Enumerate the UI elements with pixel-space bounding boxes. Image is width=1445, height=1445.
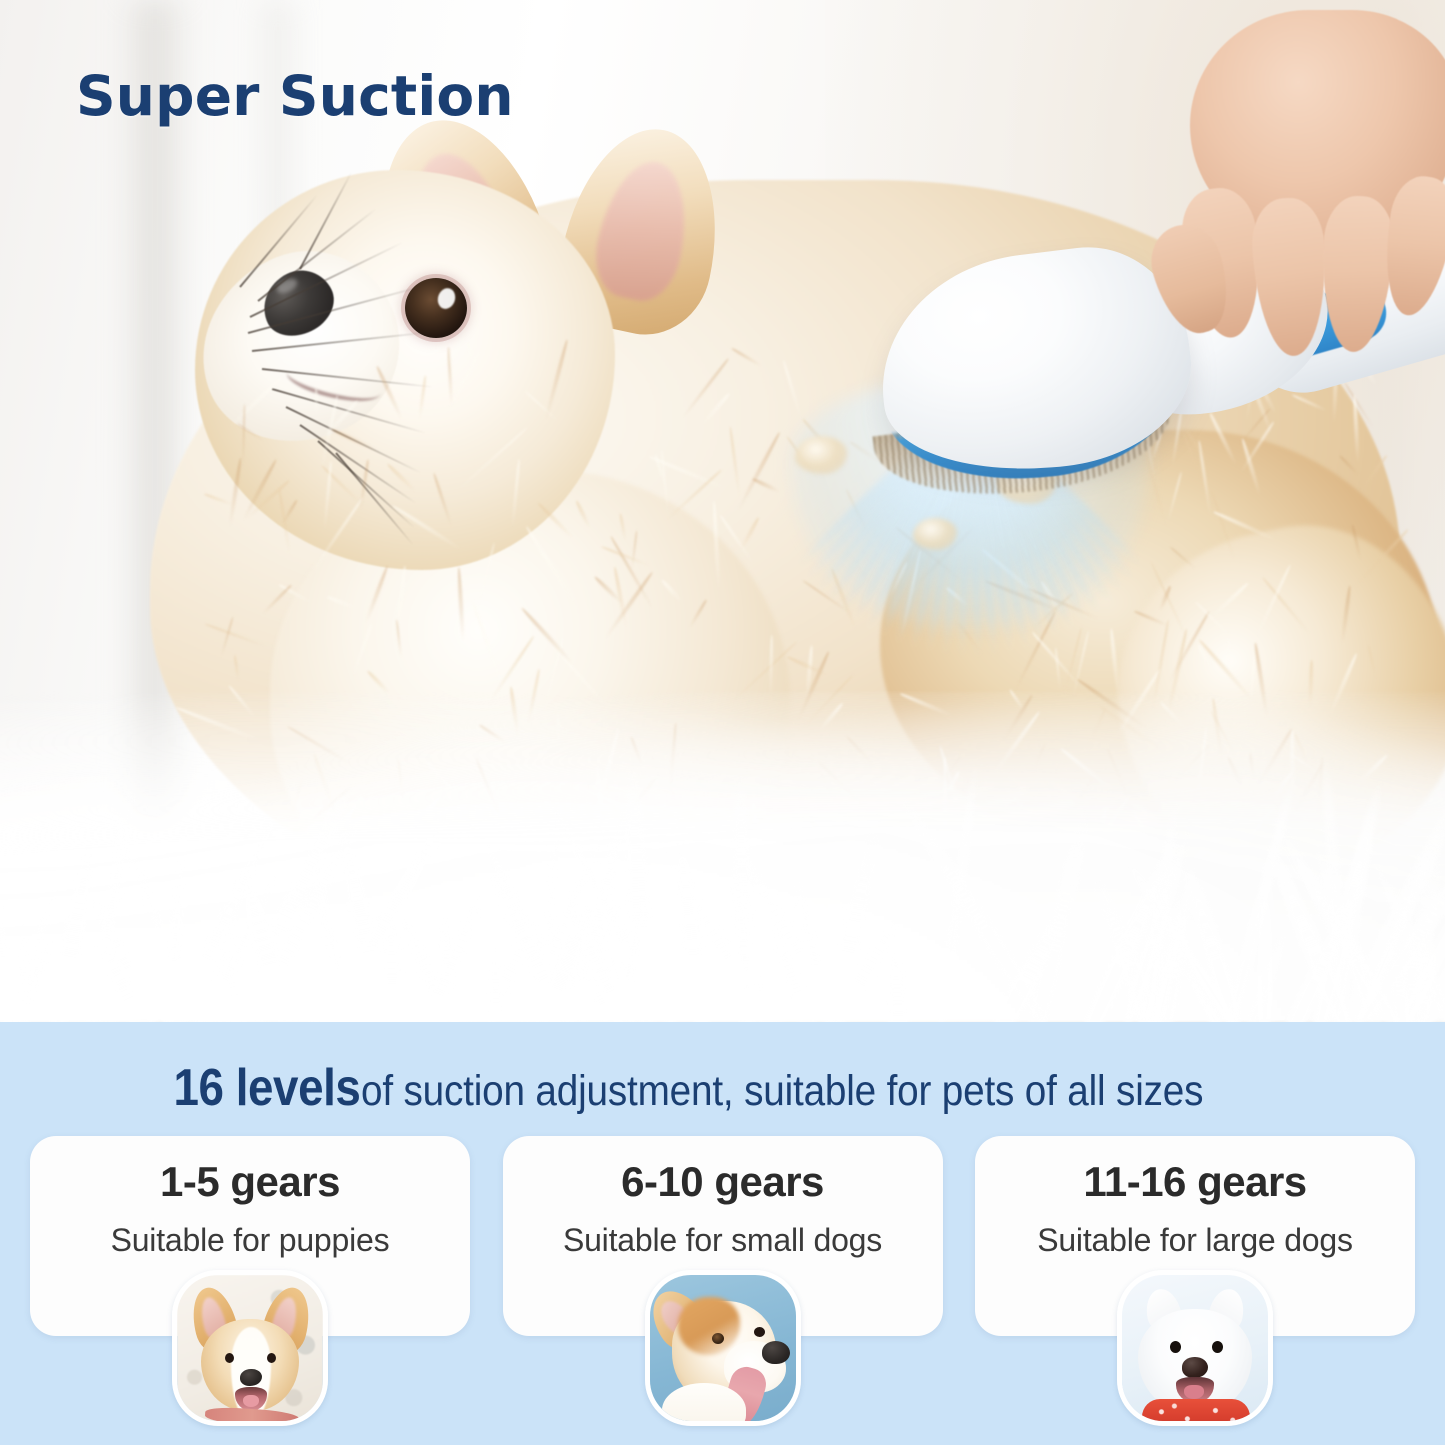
dog-tongue — [243, 1395, 259, 1407]
card-subtitle: Suitable for large dogs — [975, 1222, 1415, 1259]
gear-card-1-5[interactable]: 1-5 gears Suitable for puppies — [30, 1136, 470, 1336]
page-title: Super Suction — [76, 64, 514, 128]
hand-finger — [1250, 196, 1330, 358]
dog-eye-left — [1170, 1341, 1181, 1353]
dog-eye-left — [712, 1333, 724, 1344]
dog-eye-left — [225, 1353, 234, 1363]
corgi-dog-photo — [645, 1270, 801, 1426]
card-subtitle: Suitable for small dogs — [503, 1222, 943, 1259]
hand-finger — [1318, 194, 1396, 353]
gear-card-11-16[interactable]: 11-16 gears Suitable for large dogs — [975, 1136, 1415, 1336]
suction-levels-banner: 16 levels of suction adjustment, suitabl… — [0, 1022, 1445, 1445]
product-infographic: Super Suction 16 levels of suction adjus… — [0, 0, 1445, 1445]
dog-nose — [762, 1341, 790, 1364]
dog-fur-strand — [315, 388, 318, 416]
card-title: 6-10 gears — [503, 1158, 943, 1206]
dog-eye-right — [1212, 1341, 1223, 1353]
dog-nose — [1182, 1357, 1208, 1378]
dog-bandana — [1142, 1399, 1250, 1426]
card-title: 11-16 gears — [975, 1158, 1415, 1206]
dog-eye-right — [267, 1353, 276, 1363]
banner-heading-strong: 16 levels — [174, 1058, 361, 1118]
dog-tongue — [1184, 1385, 1204, 1399]
gear-cards: 1-5 gears Suitable for puppies — [0, 1136, 1445, 1336]
corgi-puppy-photo — [172, 1270, 328, 1426]
human-hand — [1150, 10, 1445, 360]
dog-eye-right — [754, 1327, 765, 1337]
card-subtitle: Suitable for puppies — [30, 1222, 470, 1259]
dog-ear-inner — [587, 154, 698, 308]
gear-card-6-10[interactable]: 6-10 gears Suitable for small dogs — [503, 1136, 943, 1336]
samoyed-dog-photo — [1117, 1270, 1273, 1426]
card-title: 1-5 gears — [30, 1158, 470, 1206]
hero-photo: Super Suction — [0, 0, 1445, 1022]
banner-heading-rest: of suction adjustment, suitable for pets… — [361, 1067, 1203, 1116]
banner-heading: 16 levels of suction adjustment, suitabl… — [0, 1058, 1445, 1118]
